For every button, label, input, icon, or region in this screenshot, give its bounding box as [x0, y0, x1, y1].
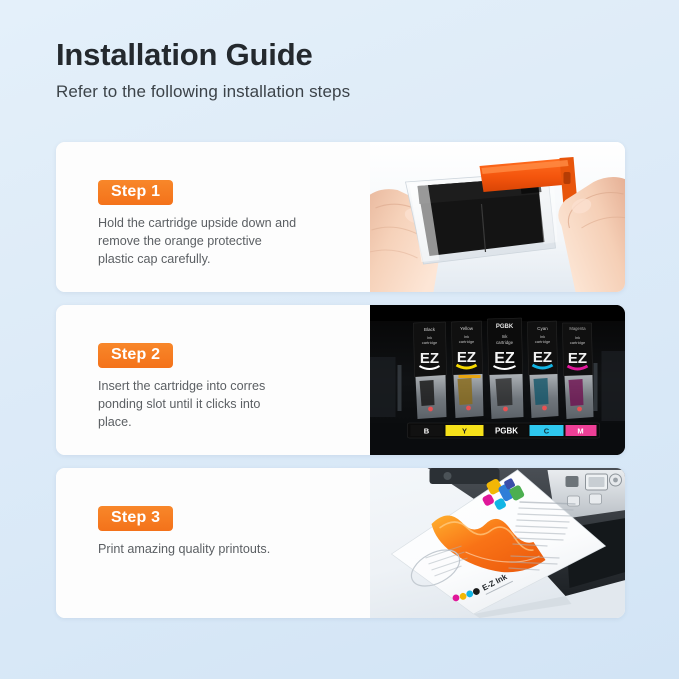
svg-text:EZ: EZ — [568, 350, 587, 367]
svg-text:Ink: Ink — [502, 334, 509, 339]
step-photo-3: E-Z Ink — [370, 468, 625, 618]
svg-text:PGBK: PGBK — [496, 324, 514, 330]
cartridge-cap-removal-illustration — [370, 142, 625, 292]
step-badge-2: Step 2 — [98, 343, 173, 368]
svg-text:Cyan: Cyan — [537, 326, 548, 331]
svg-text:cartridge: cartridge — [535, 339, 551, 344]
svg-text:PGBK: PGBK — [495, 427, 518, 436]
svg-text:EZ: EZ — [457, 349, 476, 366]
cartridge-yellow: Yellow Ink cartridge EZ — [452, 321, 484, 418]
svg-text:EZ: EZ — [420, 350, 439, 367]
svg-text:cartridge: cartridge — [459, 339, 475, 344]
step-card-3-text: Step 3 Print amazing quality printouts. — [56, 468, 370, 618]
svg-text:EZ: EZ — [494, 350, 515, 367]
svg-text:M: M — [577, 427, 583, 436]
step-badge-3: Step 3 — [98, 506, 173, 531]
cartridge-row: Black Ink cartridge EZ Yellow Ink — [414, 318, 594, 419]
page-header: Installation Guide Refer to the followin… — [56, 38, 350, 102]
svg-text:EZ: EZ — [533, 349, 552, 366]
page-subtitle: Refer to the following installation step… — [56, 82, 350, 102]
step-card-2-text: Step 2 Insert the cartridge into corres … — [56, 305, 370, 455]
svg-text:Yellow: Yellow — [460, 326, 474, 331]
svg-text:cartridge: cartridge — [496, 340, 514, 345]
steps-list: Step 1 Hold the cartridge upside down an… — [56, 142, 625, 631]
step-card-2: Step 2 Insert the cartridge into corres … — [56, 305, 625, 455]
step-description-1: Hold the cartridge upside down and remov… — [98, 215, 348, 269]
cartridge-black: Black Ink cartridge EZ — [414, 322, 447, 419]
step-photo-2: Black Ink cartridge EZ Yellow Ink — [370, 305, 625, 455]
cartridge-pgbk: PGBK Ink cartridge EZ — [488, 318, 524, 419]
svg-text:Y: Y — [462, 427, 467, 436]
step-card-1-text: Step 1 Hold the cartridge upside down an… — [56, 142, 370, 292]
svg-text:B: B — [424, 427, 430, 436]
step-photo-1 — [370, 142, 625, 292]
svg-text:Black: Black — [424, 327, 436, 332]
cartridge-magenta: Magenta Ink cartridge EZ — [563, 323, 594, 419]
svg-text:cartridge: cartridge — [570, 340, 586, 345]
slot-label-strip: B Y PGBK C M — [408, 423, 600, 438]
svg-text:C: C — [544, 427, 550, 436]
cartridge-cyan: Cyan Ink cartridge EZ — [528, 321, 559, 418]
printed-output-illustration: E-Z Ink — [370, 468, 625, 618]
svg-text:cartridge: cartridge — [422, 340, 438, 345]
step-card-3: Step 3 Print amazing quality printouts. — [56, 468, 625, 618]
page-title: Installation Guide — [56, 38, 350, 72]
cartridge-install-illustration: Black Ink cartridge EZ Yellow Ink — [370, 305, 625, 455]
step-description-3: Print amazing quality printouts. — [98, 541, 348, 559]
step-badge-1: Step 1 — [98, 180, 173, 205]
svg-text:Magenta: Magenta — [569, 326, 586, 331]
step-card-1: Step 1 Hold the cartridge upside down an… — [56, 142, 625, 292]
step-description-2: Insert the cartridge into corres ponding… — [98, 378, 348, 432]
